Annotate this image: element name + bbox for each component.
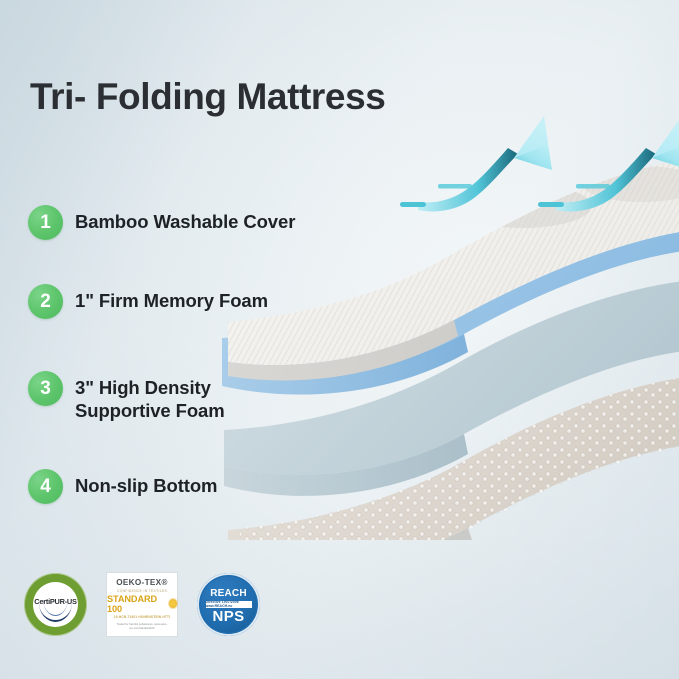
feature-item-1: 1 Bamboo Washable Cover [28, 205, 295, 240]
exploded-mattress-illustration [222, 110, 679, 540]
airflow-arrows [400, 116, 679, 212]
airflow-arrow-right [538, 116, 679, 212]
non-slip-bottom-layer [222, 350, 679, 540]
feature-number-badge-1: 1 [28, 205, 63, 240]
bamboo-cover-layer [222, 140, 679, 380]
feature-label-1: Bamboo Washable Cover [75, 205, 295, 233]
oeko-tex-code: 19.HCN.71901 HOHENSTEIN HTTI [114, 615, 170, 619]
oeko-tex-title: OEKO-TEX® [116, 578, 168, 587]
reach-band: Directive 1907/2006 www.REACH.eu [206, 601, 252, 608]
oeko-tex-standard-row: STANDARD 100 [107, 594, 177, 614]
oeko-tex-standard: STANDARD 100 [107, 594, 166, 614]
oeko-tex-badge: OEKO-TEX® CONFIDENCE IN TEXTILES STANDAR… [106, 572, 178, 637]
feature-item-4: 4 Non-slip Bottom [28, 469, 217, 504]
feature-item-2: 2 1" Firm Memory Foam [28, 284, 268, 319]
feature-item-3: 3 3" High Density Supportive Foam [28, 371, 225, 422]
infographic-canvas: Tri- Folding Mattress 1 Bamboo Washable … [0, 0, 679, 679]
feature-label-3: 3" High Density Supportive Foam [75, 371, 225, 422]
support-foam-layer [224, 280, 679, 496]
sun-icon [169, 599, 177, 608]
feature-number-badge-2: 2 [28, 284, 63, 319]
reach-band-text: Directive 1907/2006 www.REACH.eu [206, 600, 252, 608]
oeko-tex-subtitle: CONFIDENCE IN TEXTILES [117, 589, 167, 593]
feature-label-2: 1" Firm Memory Foam [75, 284, 268, 312]
certipur-us-badge: CertiPUR-US [24, 573, 87, 636]
page-title: Tri- Folding Mattress [30, 78, 385, 117]
feature-number-badge-4: 4 [28, 469, 63, 504]
nps-label: NPS [212, 609, 244, 624]
certification-badges: CertiPUR-US OEKO-TEX® CONFIDENCE IN TEXT… [24, 572, 260, 637]
airflow-arrow-left [400, 116, 552, 212]
oeko-tex-fine-print: Tested for harmful substances. www.oeko-… [107, 623, 177, 631]
certipur-inner: CertiPUR-US [33, 582, 78, 627]
feature-label-4: Non-slip Bottom [75, 469, 217, 497]
feature-number-badge-3: 3 [28, 371, 63, 406]
reach-nps-badge: REACH Directive 1907/2006 www.REACH.eu N… [197, 573, 260, 636]
certipur-swoosh-inner [39, 603, 72, 622]
reach-label: REACH [210, 588, 247, 599]
